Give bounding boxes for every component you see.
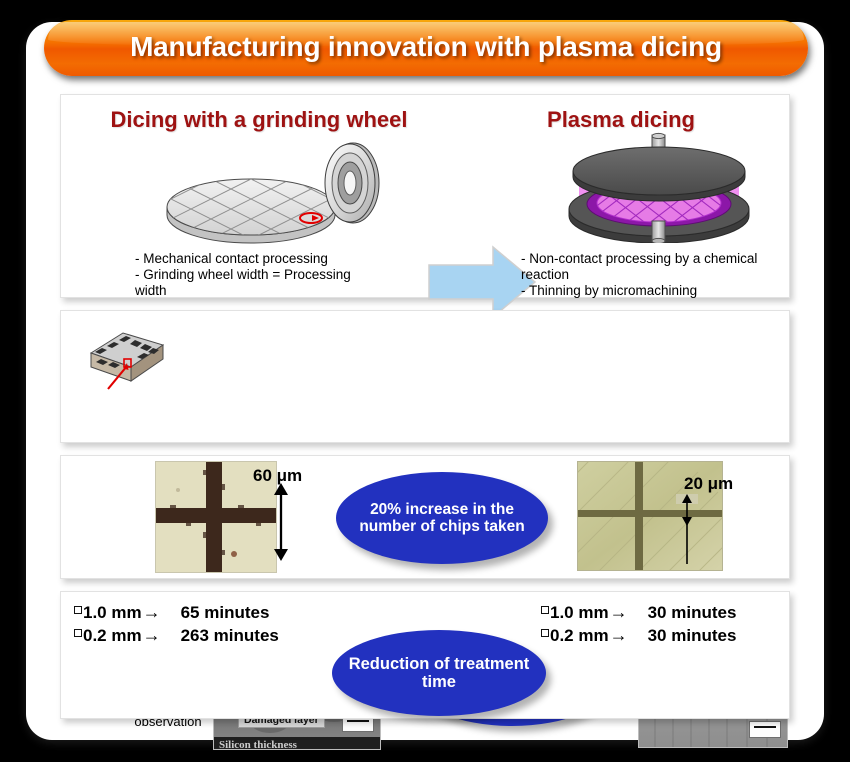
bullet-box-icon: [74, 629, 82, 637]
time-rows-grinding: 1.0 mm → 65 minutes 0.2 mm → 263 minutes: [74, 601, 317, 647]
svg-text:Silicon thickness: Silicon thickness: [219, 739, 298, 750]
slide-title-banner: Manufacturing innovation with plasma dic…: [44, 20, 808, 76]
thickness-value: 0.2 mm: [83, 625, 142, 647]
duration-value: 263 minutes: [181, 625, 317, 647]
note-item: - Grinding wheel width = Processing widt…: [135, 267, 367, 299]
bullet-box-icon: [541, 629, 549, 637]
chip-sample-icon: [77, 319, 177, 399]
dimension-arrow-20um: [676, 494, 698, 566]
arrow-glyph-icon: →: [143, 601, 161, 623]
dimension-label-60um: 60 μm: [253, 466, 302, 486]
thickness-value: 1.0 mm: [83, 602, 142, 624]
dimension-arrow-60um: [268, 483, 294, 561]
process-comparison-panel: Dicing with a grinding wheel Plasma dici…: [60, 94, 790, 298]
plasma-dicing-illustration: [551, 131, 767, 243]
callout-chip-increase: 20% increase in the number of chips take…: [336, 472, 548, 564]
grinding-wheel-illustration: [151, 133, 391, 245]
note-item: - Thinning by micromachining: [521, 283, 761, 299]
time-row: 0.2 mm → 30 minutes: [541, 624, 778, 647]
heading-plasma-dicing: Plasma dicing: [461, 107, 781, 133]
scale-bar-right: [749, 721, 781, 738]
note-item: - Non-contact processing by a chemical r…: [521, 251, 761, 283]
plasma-dicing-notes: - Non-contact processing by a chemical r…: [521, 251, 761, 299]
arrow-glyph-icon: →: [143, 624, 161, 646]
heading-grinding-wheel: Dicing with a grinding wheel: [69, 107, 449, 133]
arrow-glyph-icon: →: [610, 601, 628, 623]
grinding-wheel-notes: - Mechanical contact processing - Grindi…: [135, 251, 367, 299]
time-rows-plasma: 1.0 mm → 30 minutes 0.2 mm → 30 minutes: [541, 601, 778, 647]
thickness-value: 1.0 mm: [550, 602, 609, 624]
thickness-value: 0.2 mm: [550, 625, 609, 647]
page-title: Manufacturing innovation with plasma dic…: [44, 20, 808, 76]
dimension-label-20um: 20 μm: [684, 474, 733, 494]
bullet-box-icon: [541, 606, 549, 614]
duration-value: 30 minutes: [648, 625, 778, 647]
arrow-glyph-icon: →: [610, 624, 628, 646]
duration-value: 65 minutes: [181, 602, 317, 624]
note-item: - Mechanical contact processing: [135, 251, 367, 267]
time-row: 0.2 mm → 263 minutes: [74, 624, 317, 647]
bullet-box-icon: [74, 606, 82, 614]
callout-treatment-time: Reduction of treatment time: [332, 630, 546, 716]
time-row: 1.0 mm → 30 minutes: [541, 601, 778, 624]
time-row: 1.0 mm → 65 minutes: [74, 601, 317, 624]
tem-comparison-panel: TEM observation: [60, 310, 790, 443]
duration-value: 30 minutes: [648, 602, 778, 624]
slide-frame: Manufacturing innovation with plasma dic…: [0, 0, 850, 762]
